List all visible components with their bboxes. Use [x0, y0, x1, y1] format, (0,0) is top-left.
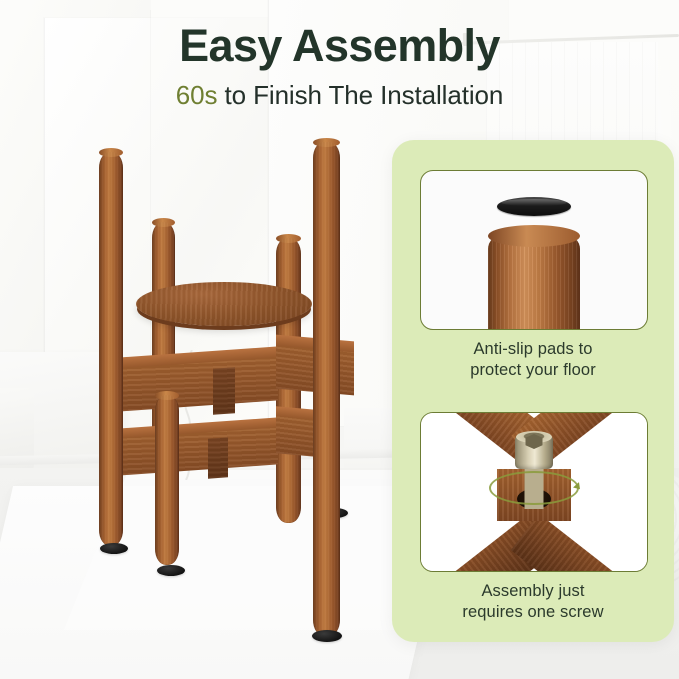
callout-caption-anti-slip: Anti-slip pads to protect your floor — [420, 339, 646, 381]
plant-stand-leg-front-right — [313, 142, 340, 636]
plant-stand-disc-platform — [136, 282, 312, 326]
cross-joint-illustration — [421, 413, 647, 571]
leg-closeup-illustration — [488, 235, 580, 330]
callout-frame-one-screw — [420, 412, 648, 572]
joint-arm-bottom-right — [511, 514, 648, 572]
callout-panel: Anti-slip pads to protect your floor — [392, 140, 674, 642]
page-subtitle: 60s to Finish The Installation — [0, 80, 679, 111]
headings: Easy Assembly 60s to Finish The Installa… — [0, 0, 679, 111]
caption-line-2: requires one screw — [420, 602, 646, 623]
caption-line-1: Anti-slip pads to — [420, 339, 646, 360]
plant-stand-upper-rail-notch — [213, 367, 235, 415]
caption-line-1: Assembly just — [420, 581, 646, 602]
callout-one-screw: Assembly just requires one screw — [420, 412, 646, 623]
screw-head — [515, 435, 553, 469]
plant-stand-leg-front-left — [99, 152, 123, 546]
rotation-arrow-icon — [489, 471, 579, 505]
product-marketing-image: Easy Assembly 60s to Finish The Installa… — [0, 0, 679, 679]
subtitle-rest: to Finish The Installation — [217, 80, 503, 110]
anti-slip-pad-icon — [497, 197, 571, 216]
callout-frame-anti-slip — [420, 170, 648, 330]
callout-caption-one-screw: Assembly just requires one screw — [420, 581, 646, 623]
caption-line-2: protect your floor — [420, 360, 646, 381]
anti-slip-pad-front-right — [312, 630, 342, 642]
anti-slip-pad-center-front — [157, 565, 185, 576]
plant-stand-leg-center-front — [155, 395, 179, 565]
callout-anti-slip-pads: Anti-slip pads to protect your floor — [420, 170, 646, 381]
page-title: Easy Assembly — [0, 0, 679, 72]
hex-socket-icon — [526, 434, 543, 449]
anti-slip-pad-front-left — [100, 543, 128, 554]
plant-stand-lower-rail-notch — [208, 437, 228, 478]
subtitle-accent: 60s — [176, 80, 218, 110]
